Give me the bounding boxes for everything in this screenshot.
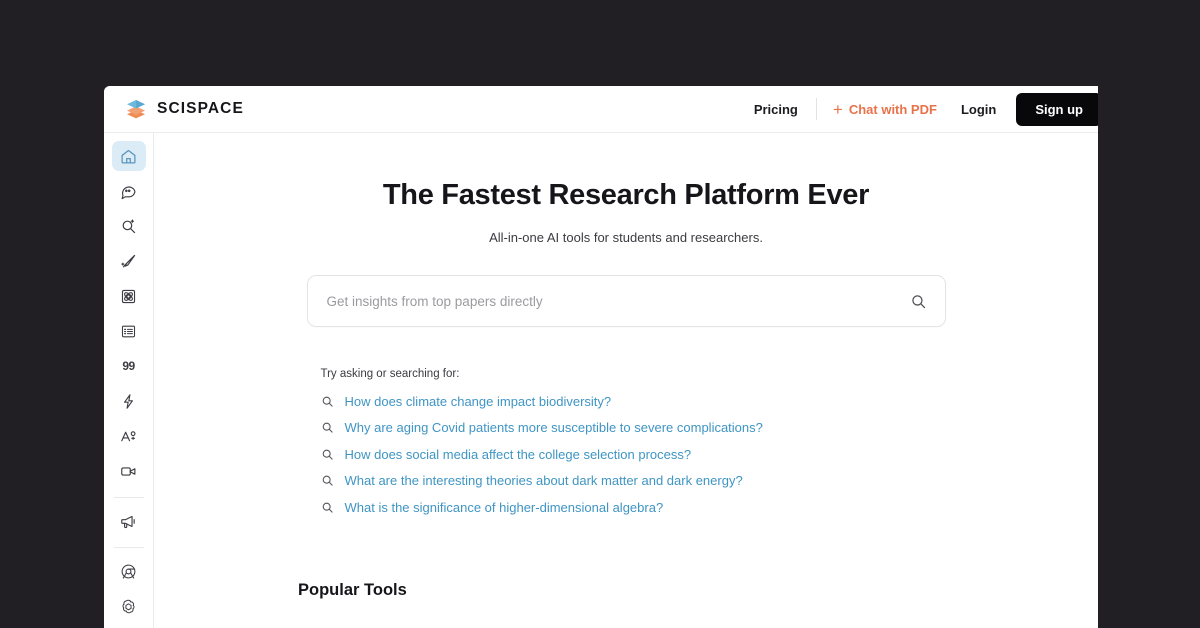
popular-tools-heading: Popular Tools bbox=[298, 581, 1098, 600]
suggestion-label: What is the significance of higher-dimen… bbox=[345, 500, 664, 515]
suggestions-label: Try asking or searching for: bbox=[321, 368, 946, 380]
openai-gpt-icon bbox=[120, 598, 137, 615]
quote-99-icon: 99 bbox=[122, 359, 134, 373]
video-camera-icon bbox=[120, 463, 137, 480]
brand-name: SCISPACE bbox=[157, 100, 244, 118]
sidebar-item-literature-search[interactable] bbox=[112, 211, 146, 241]
search-icon bbox=[321, 448, 334, 461]
sidebar-item-paraphraser[interactable] bbox=[112, 421, 146, 451]
suggestion-label: What are the interesting theories about … bbox=[345, 473, 743, 488]
suggestion-item[interactable]: What are the interesting theories about … bbox=[321, 468, 946, 495]
nav-chat-with-pdf[interactable]: + Chat with PDF bbox=[821, 101, 949, 118]
megaphone-icon bbox=[120, 513, 137, 530]
suggestion-label: Why are aging Covid patients more suscep… bbox=[345, 420, 763, 435]
nav-divider bbox=[816, 98, 817, 120]
search-icon bbox=[321, 501, 334, 514]
screenshot-stage: SCISPACE Pricing + Chat with PDF Login S… bbox=[0, 0, 1200, 628]
nav-pricing[interactable]: Pricing bbox=[740, 102, 812, 117]
app-window: SCISPACE Pricing + Chat with PDF Login S… bbox=[104, 86, 1098, 628]
sidebar-item-citation[interactable]: 99 bbox=[112, 351, 146, 381]
search-sparkle-icon bbox=[120, 218, 137, 235]
atom-icon bbox=[120, 288, 137, 305]
chrome-extension-icon bbox=[120, 563, 137, 580]
paraphrase-text-icon bbox=[120, 428, 137, 445]
top-navigation-bar: SCISPACE Pricing + Chat with PDF Login S… bbox=[104, 86, 1098, 133]
nav-chat-with-pdf-label: Chat with PDF bbox=[849, 102, 937, 117]
nav-login[interactable]: Login bbox=[949, 102, 1008, 117]
search-bar[interactable] bbox=[307, 275, 946, 327]
sidebar-item-announcements[interactable] bbox=[112, 506, 146, 536]
search-icon[interactable] bbox=[910, 293, 927, 310]
sidebar-divider-2 bbox=[114, 547, 144, 548]
suggestion-item[interactable]: What is the significance of higher-dimen… bbox=[321, 494, 946, 521]
sidebar-item-home[interactable] bbox=[112, 141, 146, 171]
sidebar-item-gpt[interactable] bbox=[112, 591, 146, 621]
suggestion-label: How does climate change impact biodivers… bbox=[345, 394, 612, 409]
home-icon bbox=[120, 148, 137, 165]
search-icon bbox=[321, 474, 334, 487]
left-sidebar: 99 bbox=[104, 133, 154, 628]
lightning-bolt-icon bbox=[120, 393, 137, 410]
sidebar-item-paper-explorer[interactable] bbox=[112, 281, 146, 311]
suggestion-item[interactable]: Why are aging Covid patients more suscep… bbox=[321, 415, 946, 442]
suggestions-panel: Try asking or searching for: How does cl… bbox=[307, 368, 946, 521]
sidebar-item-ai-writer[interactable] bbox=[112, 246, 146, 276]
layers-logo-icon bbox=[124, 97, 148, 121]
magic-pen-icon bbox=[120, 253, 137, 270]
brand-logo-link[interactable]: SCISPACE bbox=[124, 97, 244, 121]
search-icon bbox=[321, 395, 334, 408]
suggestion-item[interactable]: How does social media affect the college… bbox=[321, 441, 946, 468]
page-subtitle: All-in-one AI tools for students and res… bbox=[154, 230, 1098, 245]
suggestion-item[interactable]: How does climate change impact biodivers… bbox=[321, 388, 946, 415]
chat-bubble-icon bbox=[120, 183, 137, 200]
sidebar-item-ai-detector[interactable] bbox=[112, 386, 146, 416]
plus-icon: + bbox=[833, 101, 843, 118]
search-icon bbox=[321, 421, 334, 434]
signup-button[interactable]: Sign up bbox=[1016, 93, 1098, 126]
sidebar-divider bbox=[114, 497, 144, 498]
suggestion-label: How does social media affect the college… bbox=[345, 447, 692, 462]
outline-list-icon bbox=[120, 323, 137, 340]
sidebar-item-chat[interactable] bbox=[112, 176, 146, 206]
sidebar-item-video[interactable] bbox=[112, 456, 146, 486]
sidebar-item-chrome-extension[interactable] bbox=[112, 556, 146, 586]
page-title: The Fastest Research Platform Ever bbox=[154, 179, 1098, 212]
sidebar-item-outline[interactable] bbox=[112, 316, 146, 346]
top-nav-links: Pricing + Chat with PDF Login Sign up bbox=[740, 86, 1098, 132]
search-input[interactable] bbox=[327, 294, 910, 309]
main-content: The Fastest Research Platform Ever All-i… bbox=[154, 133, 1098, 628]
